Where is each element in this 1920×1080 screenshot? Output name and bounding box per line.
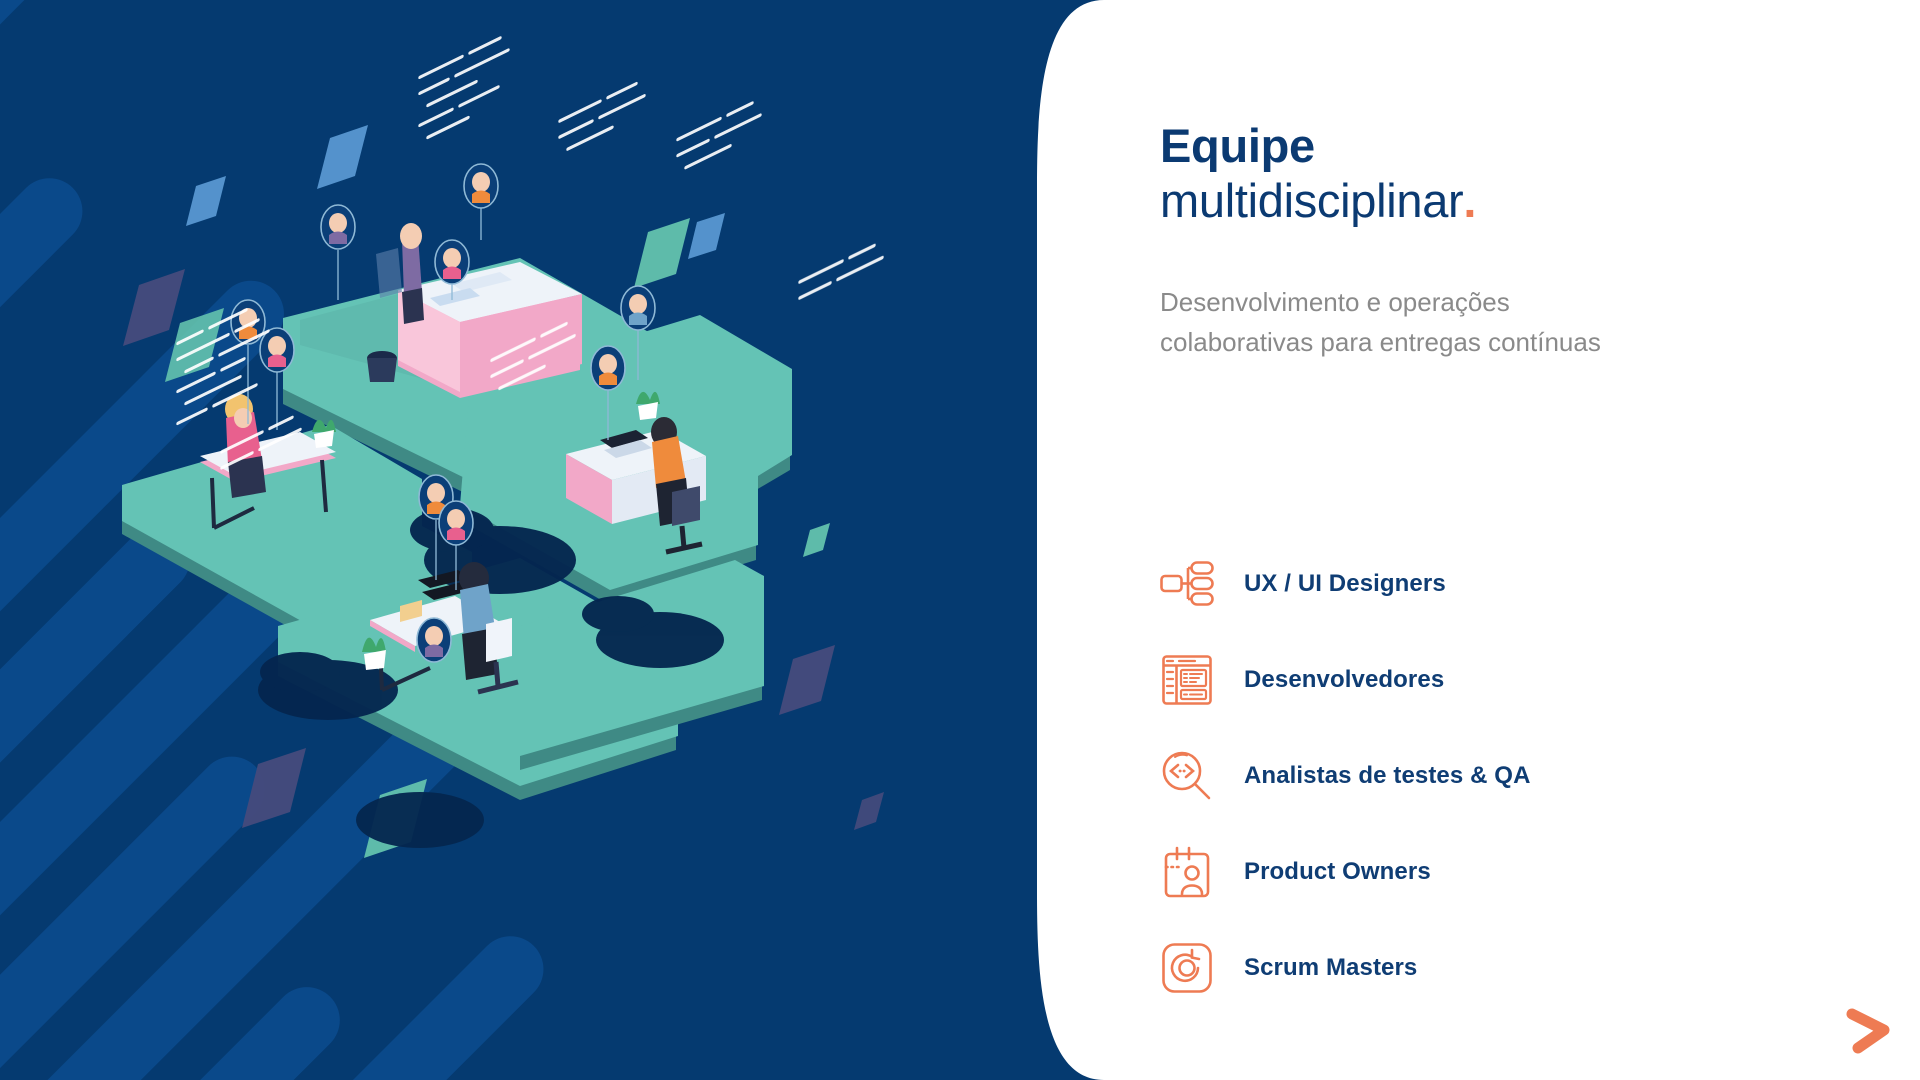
panel-shape (0, 0, 1110, 1080)
browser-window-icon (1156, 649, 1218, 711)
list-item-analistas-qa[interactable]: Analistas de testes & QA (1160, 737, 1860, 814)
left-illustration-panel (0, 0, 1110, 1080)
role-label: Scrum Masters (1244, 954, 1417, 982)
role-label: Analistas de testes & QA (1244, 762, 1531, 790)
subtitle-line-1: Desenvolvimento e operações (1160, 283, 1760, 323)
list-item-product-owners[interactable]: Product Owners (1160, 833, 1860, 910)
subtitle-line-2: colaborativas para entregas contínuas (1160, 323, 1760, 363)
content-column: Equipe multidisciplinar. Desenvolvimento… (1160, 0, 1920, 1080)
list-item-ux-ui-designers[interactable]: UX / UI Designers (1160, 545, 1860, 622)
title-line-1: Equipe (1160, 118, 1860, 173)
role-list: UX / UI Designers (1160, 545, 1860, 1006)
next-slide-arrow-button[interactable] (1836, 1000, 1898, 1062)
page-title: Equipe multidisciplinar. (1160, 118, 1860, 229)
chevron-right-arrow-icon (1836, 1000, 1898, 1062)
list-item-scrum-masters[interactable]: Scrum Masters (1160, 929, 1860, 1006)
sprint-cycle-icon (1156, 937, 1218, 999)
trash-can (367, 351, 397, 382)
subtitle: Desenvolvimento e operações colaborativa… (1160, 283, 1760, 362)
role-label: Product Owners (1244, 858, 1431, 886)
title-line-2-text: multidisciplinar (1160, 174, 1463, 227)
role-label: Desenvolvedores (1244, 666, 1444, 694)
title-accent-dot: . (1463, 174, 1476, 227)
title-line-2: multidisciplinar. (1160, 173, 1860, 228)
slide-root: Equipe multidisciplinar. Desenvolvimento… (0, 0, 1920, 1080)
calendar-person-icon (1156, 841, 1218, 903)
sitemap-icon (1156, 553, 1218, 615)
magnifier-code-icon (1156, 745, 1218, 807)
list-item-desenvolvedores[interactable]: Desenvolvedores (1160, 641, 1860, 718)
role-label: UX / UI Designers (1244, 570, 1446, 598)
